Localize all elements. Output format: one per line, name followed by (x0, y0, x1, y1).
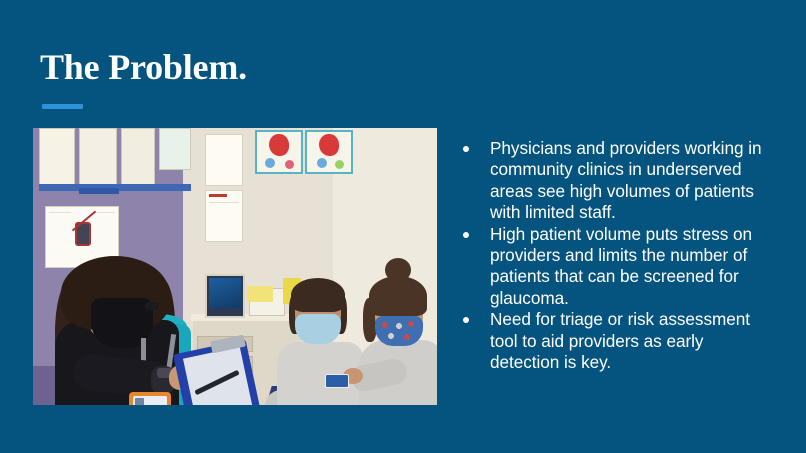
poster-1 (39, 128, 75, 186)
sign-text-right (95, 212, 115, 256)
child-hair-bun (385, 258, 411, 282)
monitor-screen (209, 278, 241, 308)
wall-sheet-lines (209, 202, 239, 236)
bullet-dot-icon (463, 317, 469, 323)
poster-strip-2 (79, 188, 119, 194)
chart-dot-3 (317, 158, 327, 168)
bullet-text: Physicians and providers working in comm… (490, 138, 761, 222)
title-accent-rule (42, 104, 83, 109)
list-item: High patient volume puts stress on provi… (459, 224, 771, 310)
chart-dot-1 (265, 158, 275, 168)
patient-parent-hair (291, 278, 345, 312)
id-badge-photo (135, 398, 144, 405)
chart-graphic-2 (319, 134, 339, 156)
bullet-dot-icon (463, 146, 469, 152)
bullet-list: Physicians and providers working in comm… (459, 138, 771, 373)
list-item: Need for triage or risk assessment tool … (459, 309, 771, 373)
list-item: Physicians and providers working in comm… (459, 138, 771, 224)
surgical-mask-blue (295, 314, 341, 344)
mask-ear-loop (145, 302, 159, 310)
slide: The Problem. (0, 0, 806, 453)
poster-4 (159, 128, 191, 170)
child-hair (369, 276, 427, 316)
wall-sheet-1 (205, 134, 243, 186)
handheld-device (325, 374, 349, 388)
sticky-note (247, 286, 273, 302)
bullet-text: High patient volume puts stress on provi… (490, 224, 752, 308)
chart-graphic-1 (269, 134, 289, 156)
sign-text-left (49, 212, 71, 256)
poster-2 (79, 128, 117, 190)
clinic-photo (33, 128, 437, 405)
poster-3 (121, 128, 155, 186)
bullet-dot-icon (463, 232, 469, 238)
chart-dot-2 (285, 160, 294, 169)
page-title: The Problem. (40, 46, 247, 88)
chart-dot-4 (335, 160, 344, 169)
mask-pattern (379, 320, 419, 342)
wall-sheet-header (209, 194, 227, 197)
bullet-text: Need for triage or risk assessment tool … (490, 309, 750, 372)
